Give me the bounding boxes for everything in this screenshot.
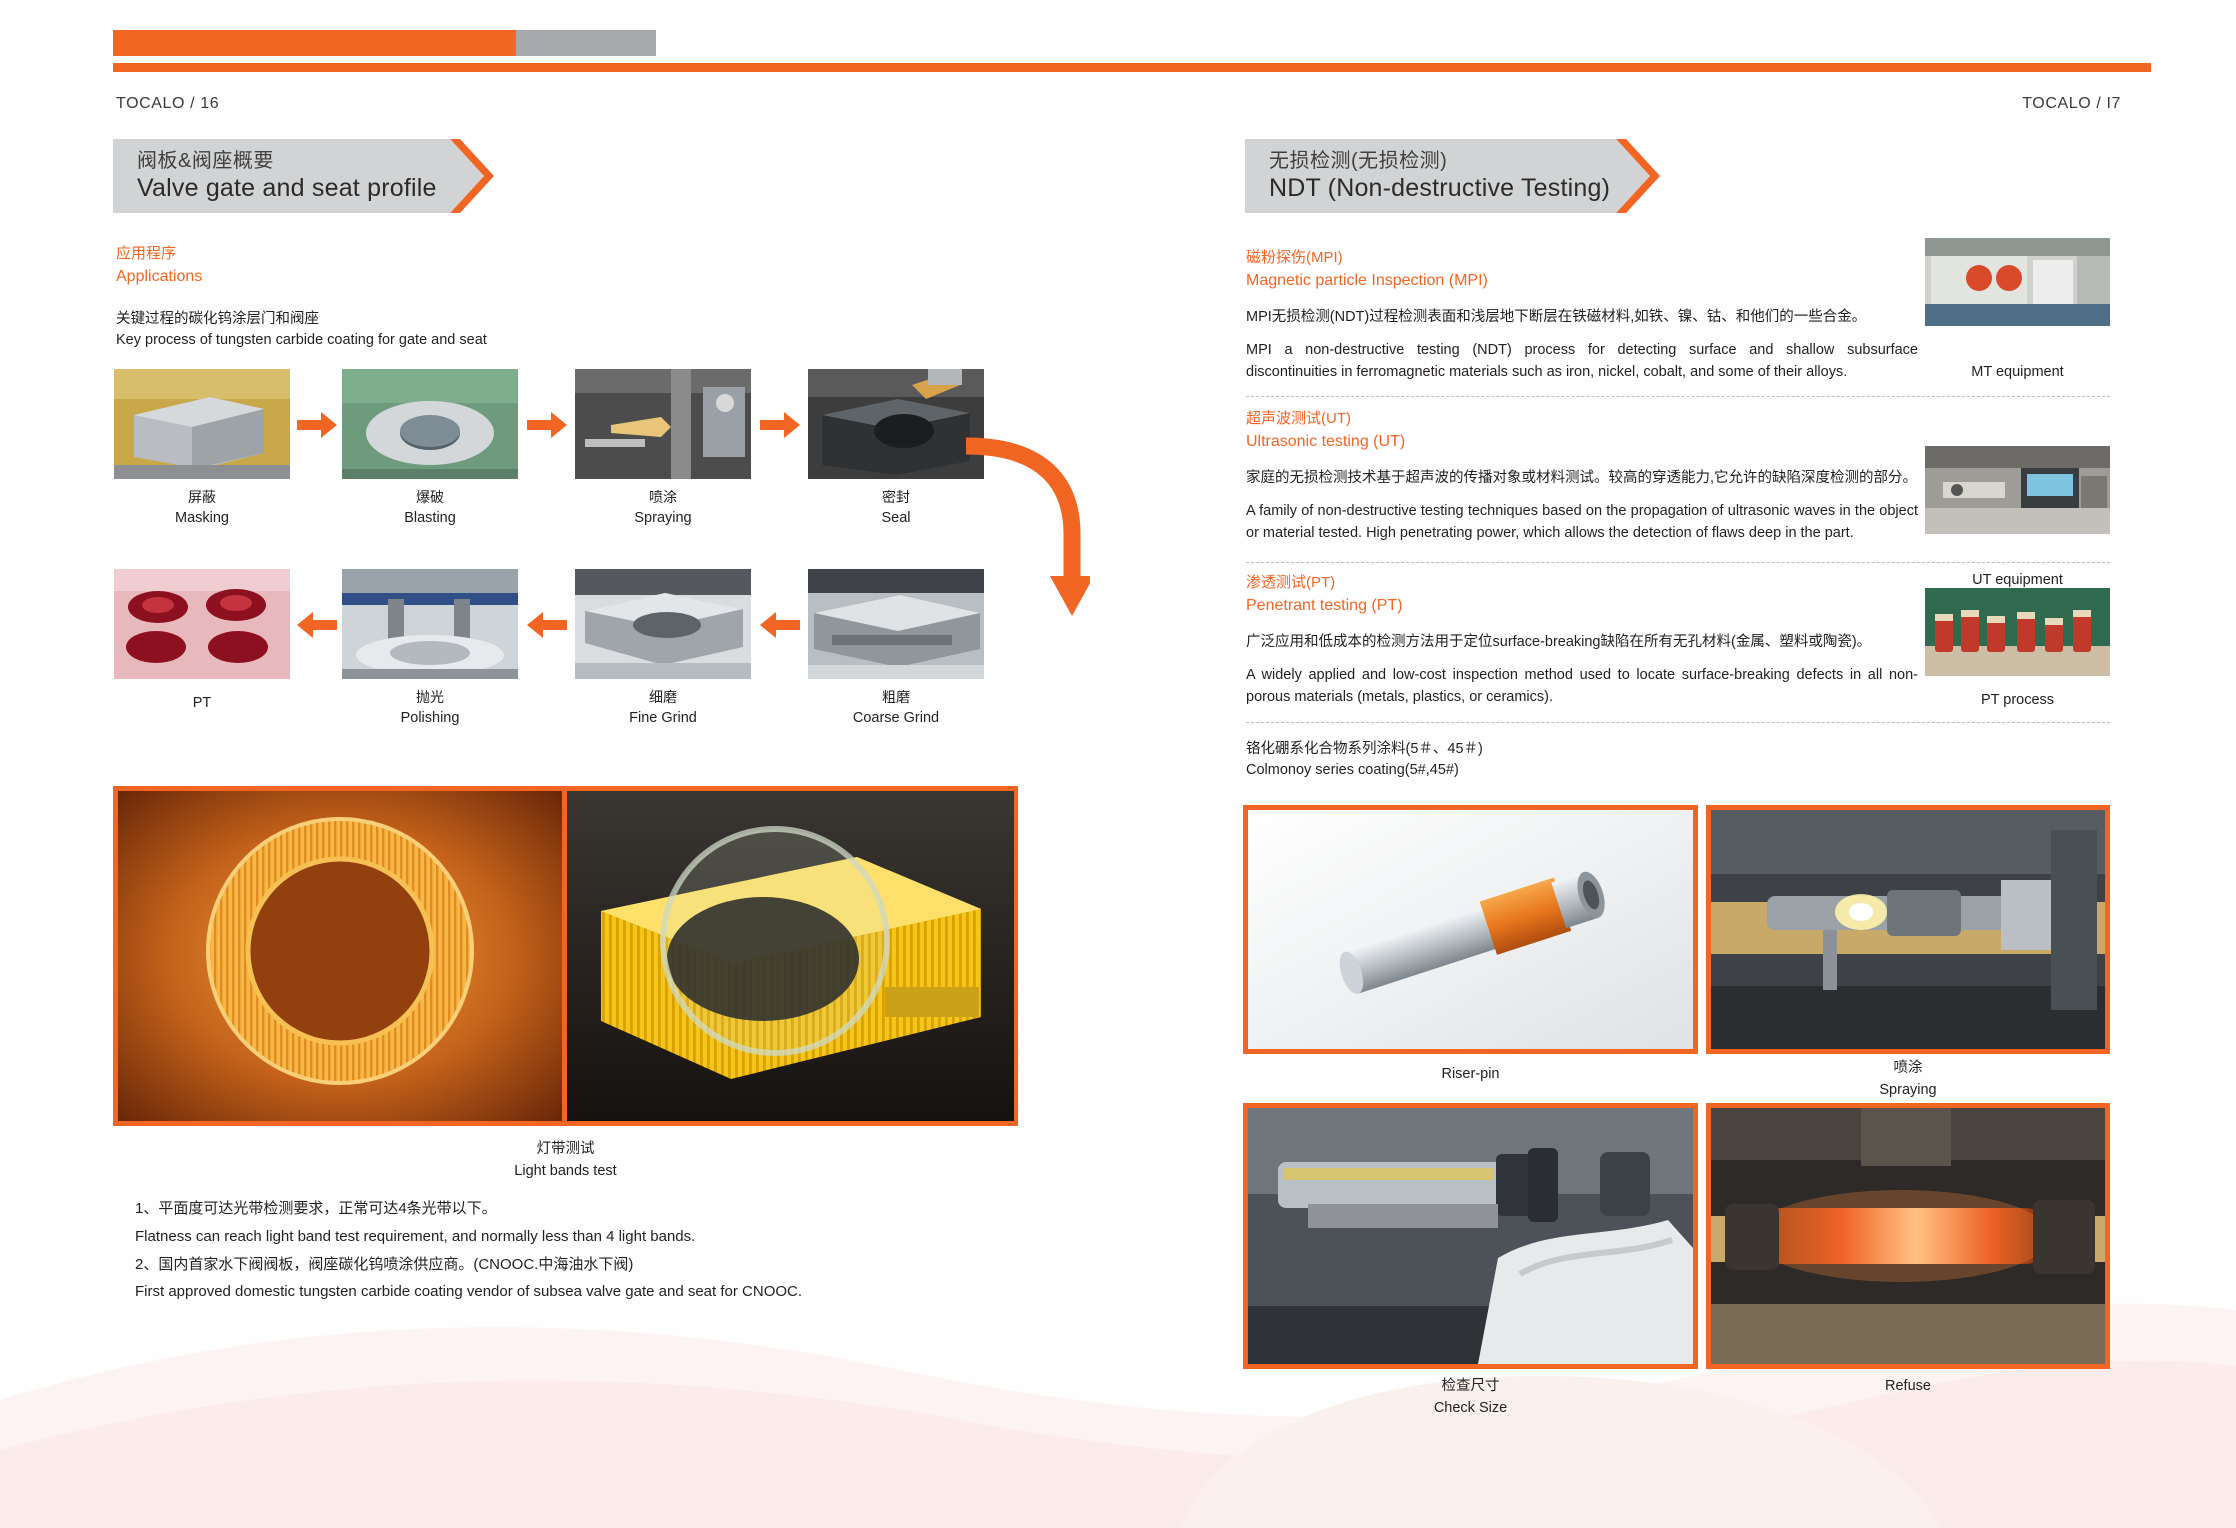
process-caption-fine-grind-en: Fine Grind	[575, 708, 751, 730]
colmonoy-title-cn: 铬化硼系化合物系列涂料(5＃、45＃)	[1246, 738, 1483, 760]
ut-equipment-thumb	[1925, 446, 2110, 534]
mpi-title-cn: 磁粉探伤(MPI)	[1246, 247, 1918, 269]
process-image-masking	[114, 369, 290, 479]
note-line-1: 1、平面度可达光带检测要求，正常可达4条光带以下。	[135, 1195, 1015, 1223]
divider-pt-colmonoy	[1246, 722, 2110, 723]
mt-equipment-caption: MT equipment	[1925, 362, 2110, 384]
process-caption-seal: 密封 Seal	[808, 487, 984, 530]
process-caption-masking-cn: 屏蔽	[114, 487, 290, 508]
process-caption-blasting-cn: 爆破	[342, 487, 518, 508]
process-caption-fine-grind: 细磨 Fine Grind	[575, 687, 751, 730]
gallery-caption-refuse: Refuse	[1706, 1376, 2110, 1398]
brochure-spread: TOCALO / 16 TOCALO / I7 阀板&阀座概要 Valve ga…	[0, 0, 2236, 1528]
right-banner-title-en: NDT (Non-destructive Testing)	[1269, 174, 1617, 204]
light-bands-image-left	[118, 791, 562, 1121]
ut-section: 超声波测试(UT) Ultrasonic testing (UT) 家庭的无损检…	[1246, 408, 1918, 545]
note-line-3: 2、国内首家水下阀阀板，阀座碳化钨喷涂供应商。(CNOOC.中海油水下阀)	[135, 1251, 1015, 1279]
applications-title-en: Applications	[116, 265, 202, 288]
process-caption-polishing-cn: 抛光	[342, 687, 518, 708]
gallery-caption-check-size: 检查尺寸 Check Size	[1243, 1376, 1698, 1420]
key-process-text: 关键过程的碳化钨涂层门和阀座 Key process of tungsten c…	[116, 308, 487, 352]
process-caption-polishing: 抛光 Polishing	[342, 687, 518, 730]
pt-body-en: A widely applied and low-cost inspection…	[1246, 665, 1918, 709]
pt-title-en: Penetrant testing (PT)	[1246, 594, 1918, 617]
gallery-caption-check-size-en: Check Size	[1243, 1398, 1698, 1420]
pt-process-caption: PT process	[1925, 690, 2110, 712]
note-line-2: Flatness can reach light band test requi…	[135, 1223, 1015, 1251]
gallery-frame-riser-pin	[1243, 805, 1698, 1054]
process-caption-seal-cn: 密封	[808, 487, 984, 508]
mpi-body-cn: MPI无损检测(NDT)过程检测表面和浅层地下断层在铁磁材料,如铁、镍、钴、和他…	[1246, 306, 1918, 328]
header-accent-bar-gray	[516, 30, 656, 56]
gallery-caption-check-size-cn: 检查尺寸	[1243, 1376, 1698, 1398]
light-bands-image-right	[567, 791, 1014, 1121]
light-bands-caption-en: Light bands test	[113, 1160, 1018, 1182]
flow-arrow-right-3	[760, 412, 800, 438]
process-image-pt	[114, 569, 290, 679]
left-section-banner: 阀板&阀座概要 Valve gate and seat profile	[113, 139, 498, 213]
process-image-blasting	[342, 369, 518, 479]
pt-process-thumb	[1925, 588, 2110, 676]
light-bands-figure-frame	[113, 786, 1018, 1126]
process-caption-masking-en: Masking	[114, 508, 290, 530]
pt-section: 渗透测试(PT) Penetrant testing (PT) 广泛应用和低成本…	[1246, 572, 1918, 709]
right-section-banner: 无损检测(无损检测) NDT (Non-destructive Testing)	[1245, 139, 1664, 213]
process-caption-seal-en: Seal	[808, 508, 984, 530]
process-caption-pt: PT	[114, 693, 290, 715]
process-caption-polishing-en: Polishing	[342, 708, 518, 730]
process-caption-pt-en: PT	[114, 693, 290, 715]
mt-equipment-thumb	[1925, 238, 2110, 326]
light-bands-caption-cn: 灯带测试	[113, 1138, 1018, 1160]
mpi-section: 磁粉探伤(MPI) Magnetic particle Inspection (…	[1246, 247, 1918, 384]
process-caption-blasting: 爆破 Blasting	[342, 487, 518, 530]
gallery-caption-spraying-cn: 喷涂	[1706, 1058, 2110, 1080]
process-image-coarse-grind	[808, 569, 984, 679]
divider-mpi-ut	[1246, 396, 2110, 397]
folio-right: TOCALO / I7	[2022, 95, 2121, 113]
ut-title-cn: 超声波测试(UT)	[1246, 408, 1918, 430]
process-caption-coarse-grind: 粗磨 Coarse Grind	[808, 687, 984, 730]
process-caption-spraying: 喷涂 Spraying	[575, 487, 751, 530]
key-process-en: Key process of tungsten carbide coating …	[116, 330, 487, 352]
process-caption-blasting-en: Blasting	[342, 508, 518, 530]
light-bands-caption: 灯带测试 Light bands test	[113, 1138, 1018, 1183]
process-image-fine-grind	[575, 569, 751, 679]
pt-body-cn: 广泛应用和低成本的检测方法用于定位surface-breaking缺陷在所有无孔…	[1246, 631, 1918, 653]
process-caption-masking: 屏蔽 Masking	[114, 487, 290, 530]
process-caption-fine-grind-cn: 细磨	[575, 687, 751, 708]
applications-heading: 应用程序 Applications	[116, 243, 202, 288]
process-image-polishing	[342, 569, 518, 679]
left-banner-title-en: Valve gate and seat profile	[137, 174, 451, 204]
flow-arrow-left-3	[760, 612, 800, 638]
header-rule	[113, 63, 2151, 72]
process-image-seal	[808, 369, 984, 479]
gallery-caption-riser-pin: Riser-pin	[1243, 1064, 1698, 1086]
ut-body-en: A family of non-destructive testing tech…	[1246, 501, 1918, 545]
gallery-caption-refuse-en: Refuse	[1706, 1376, 2110, 1398]
divider-ut-pt	[1246, 562, 2110, 563]
gallery-frame-spraying	[1706, 805, 2110, 1054]
folio-left: TOCALO / 16	[116, 95, 219, 113]
flow-arrow-right-1	[297, 412, 337, 438]
pt-title-cn: 渗透测试(PT)	[1246, 572, 1918, 594]
applications-title-cn: 应用程序	[116, 243, 202, 265]
gallery-caption-spraying: 喷涂 Spraying	[1706, 1058, 2110, 1102]
gallery-caption-riser-pin-en: Riser-pin	[1243, 1064, 1698, 1086]
mpi-title-en: Magnetic particle Inspection (MPI)	[1246, 269, 1918, 292]
flow-arrow-left-2	[527, 612, 567, 638]
header-accent-bar-orange	[113, 30, 516, 56]
chevron-right-icon	[1616, 139, 1664, 213]
process-caption-coarse-grind-en: Coarse Grind	[808, 708, 984, 730]
gallery-caption-spraying-en: Spraying	[1706, 1080, 2110, 1102]
key-process-cn: 关键过程的碳化钨涂层门和阀座	[116, 308, 487, 330]
colmonoy-title-en: Colmonoy series coating(5#,45#)	[1246, 760, 1483, 782]
gallery-frame-refuse	[1706, 1103, 2110, 1369]
process-caption-spraying-en: Spraying	[575, 508, 751, 530]
ut-body-cn: 家庭的无损检测技术基于超声波的传播对象或材料测试。较高的穿透能力,它允许的缺陷深…	[1246, 467, 1918, 489]
process-caption-coarse-grind-cn: 粗磨	[808, 687, 984, 708]
chevron-right-icon	[450, 139, 498, 213]
ut-title-en: Ultrasonic testing (UT)	[1246, 430, 1918, 453]
flow-arrow-right-2	[527, 412, 567, 438]
right-banner-title-cn: 无损检测(无损检测)	[1269, 149, 1617, 174]
flow-arrow-left-1	[297, 612, 337, 638]
left-banner-title-cn: 阀板&阀座概要	[137, 149, 451, 174]
colmonoy-heading: 铬化硼系化合物系列涂料(5＃、45＃) Colmonoy series coat…	[1246, 738, 1483, 782]
note-line-4: First approved domestic tungsten carbide…	[135, 1278, 1015, 1306]
gallery-frame-check-size	[1243, 1103, 1698, 1369]
mpi-body-en: MPI a non-destructive testing (NDT) proc…	[1246, 340, 1918, 384]
process-caption-spraying-cn: 喷涂	[575, 487, 751, 508]
process-image-spraying	[575, 369, 751, 479]
left-notes: 1、平面度可达光带检测要求，正常可达4条光带以下。 Flatness can r…	[135, 1195, 1015, 1306]
